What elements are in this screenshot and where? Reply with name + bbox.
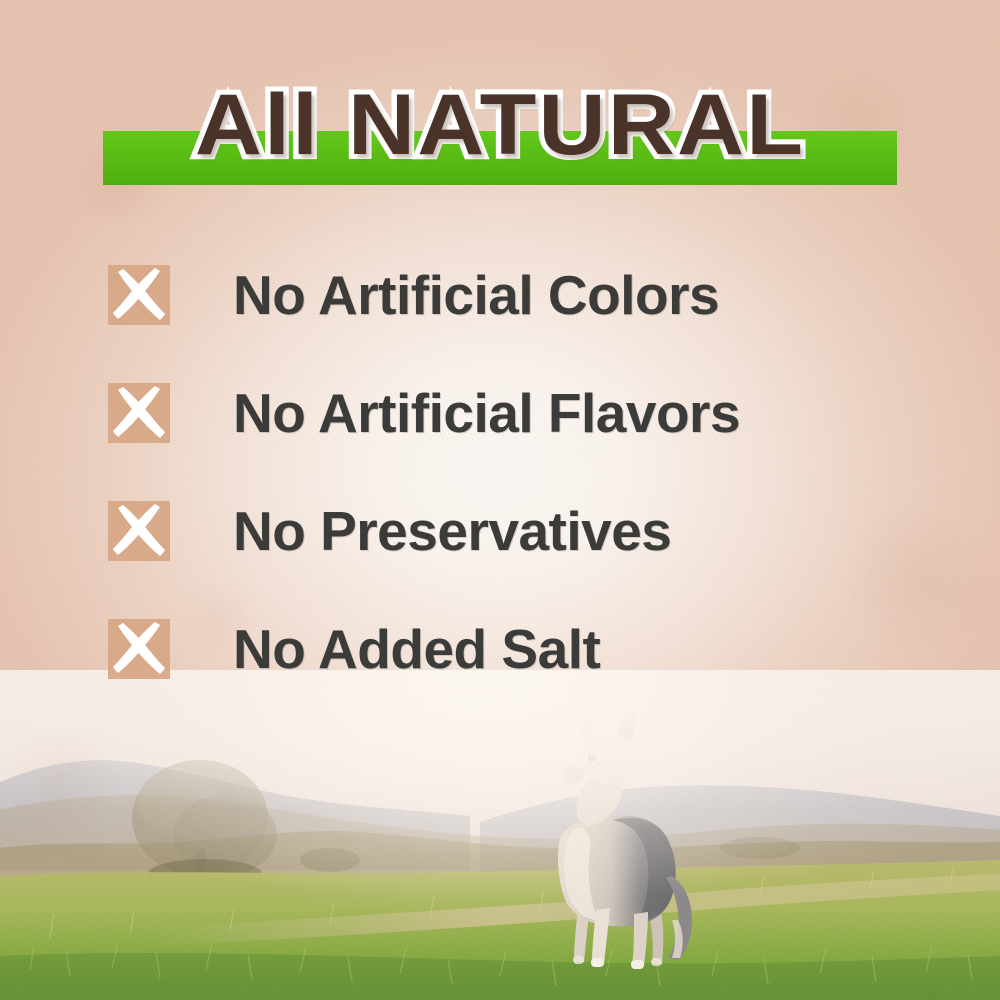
x-mark-icon	[108, 265, 170, 325]
feature-list: No Artificial Colors No Artificial Flavo…	[108, 265, 928, 737]
page-title: All NATURAL	[0, 78, 1000, 173]
poster: All NATURAL No Artificial Colors No Ar	[0, 0, 1000, 1000]
list-item: No Artificial Colors	[108, 265, 928, 383]
feature-label: No Artificial Colors	[233, 259, 719, 331]
feature-label: No Preservatives	[233, 495, 671, 567]
list-item: No Artificial Flavors	[108, 383, 928, 501]
list-item: No Preservatives	[108, 501, 928, 619]
list-item: No Added Salt	[108, 619, 928, 737]
x-mark-icon	[108, 383, 170, 443]
feature-label: No Added Salt	[233, 613, 600, 685]
feature-label: No Artificial Flavors	[233, 377, 740, 449]
x-mark-icon	[108, 619, 170, 679]
x-mark-icon	[108, 501, 170, 561]
